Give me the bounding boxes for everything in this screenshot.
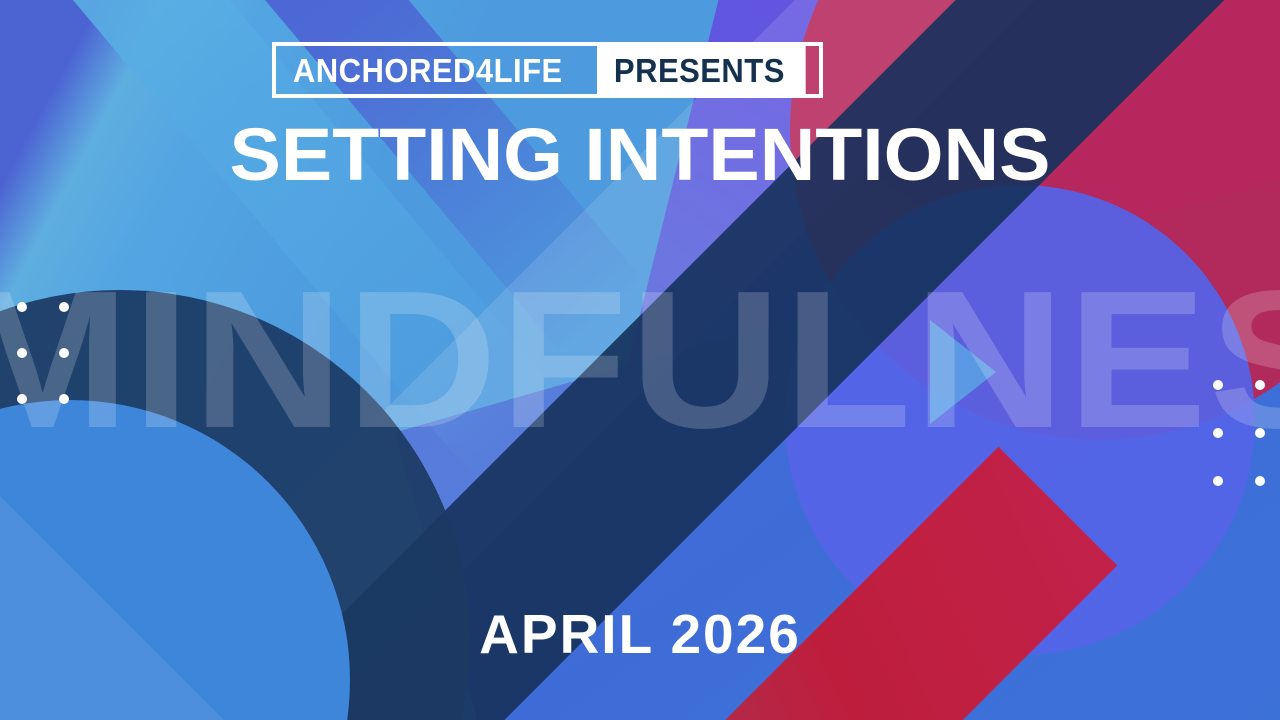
poster-content: ANCHORED4LIFE PRESENTS SETTING INTENTION… <box>0 0 1280 720</box>
presenter-banner: ANCHORED4LIFE PRESENTS <box>272 42 823 98</box>
event-date-label: APRIL 2026 <box>0 607 1280 662</box>
brand-name-label: ANCHORED4LIFE <box>276 46 578 94</box>
presents-label: PRESENTS <box>597 46 806 94</box>
event-poster: MINDFULNESS ANCHORED4LIFE PRESENTS SETTI… <box>0 0 1280 720</box>
page-title: SETTING INTENTIONS <box>0 118 1280 192</box>
